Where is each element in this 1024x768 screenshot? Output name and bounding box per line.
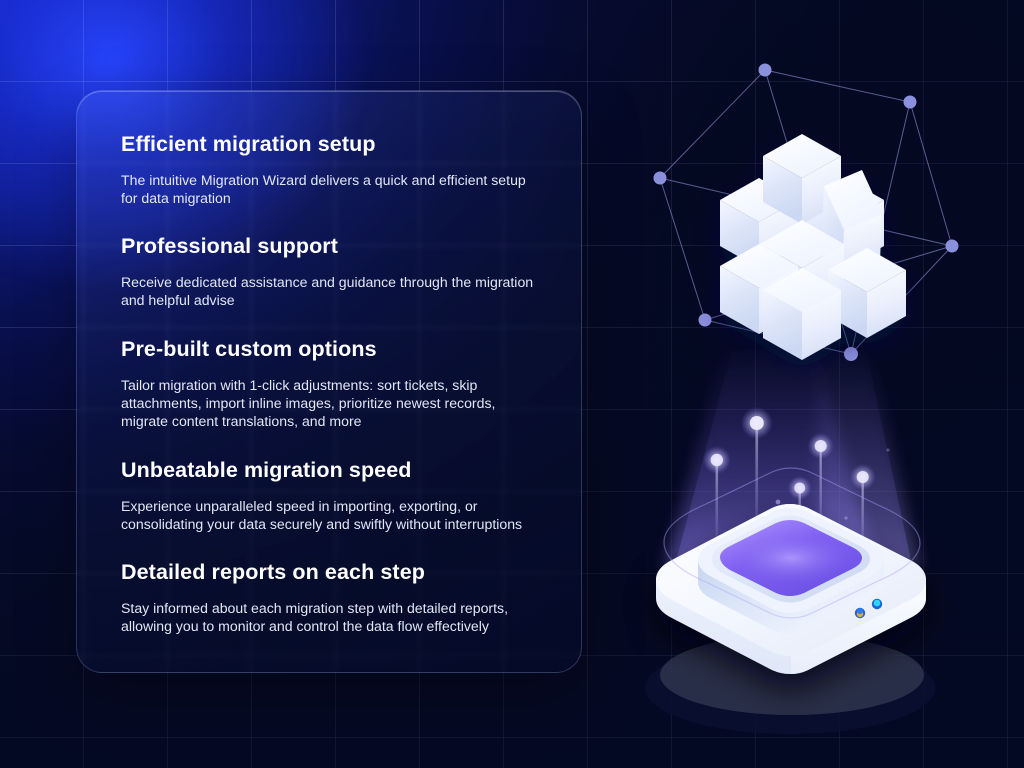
feature-item: Detailed reports on each step Stay infor… <box>121 559 537 635</box>
feature-title: Pre-built custom options <box>121 336 537 363</box>
feature-title: Detailed reports on each step <box>121 559 537 586</box>
holographic-projector-device <box>620 20 1024 760</box>
emitter-glow <box>729 532 853 584</box>
feature-card: Efficient migration setup The intuitive … <box>76 90 582 673</box>
feature-description: Experience unparalleled speed in importi… <box>121 497 537 533</box>
feature-description: Stay informed about each migration step … <box>121 599 537 635</box>
feature-description: Tailor migration with 1-click adjustment… <box>121 376 537 430</box>
feature-item: Unbeatable migration speed Experience un… <box>121 457 537 533</box>
feature-title: Unbeatable migration speed <box>121 457 537 484</box>
feature-title: Efficient migration setup <box>121 131 537 158</box>
feature-item: Pre-built custom options Tailor migratio… <box>121 336 537 430</box>
migration-illustration <box>620 20 1024 760</box>
feature-description: Receive dedicated assistance and guidanc… <box>121 273 537 309</box>
page-stage: Efficient migration setup The intuitive … <box>0 0 1024 768</box>
feature-description: The intuitive Migration Wizard delivers … <box>121 171 537 207</box>
feature-item: Efficient migration setup The intuitive … <box>121 131 537 207</box>
feature-list: Efficient migration setup The intuitive … <box>121 131 537 635</box>
led-cyan-core <box>874 600 881 607</box>
feature-item: Professional support Receive dedicated a… <box>121 233 537 309</box>
feature-title: Professional support <box>121 233 537 260</box>
